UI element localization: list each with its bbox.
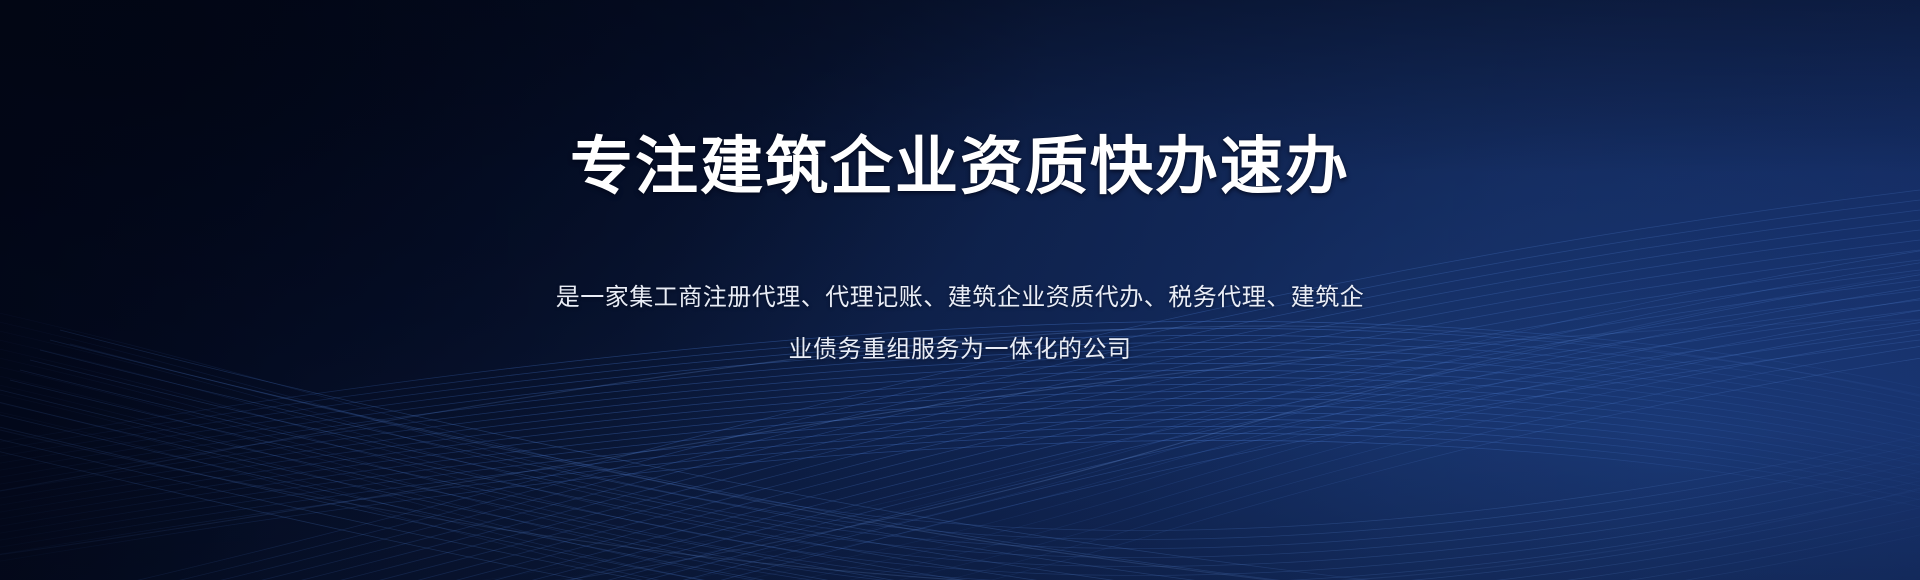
banner-content: 专注建筑企业资质快办速办 是一家集工商注册代理、代理记账、建筑企业资质代办、税务… [0,0,1920,580]
banner-subtitle-line-1: 是一家集工商注册代理、代理记账、建筑企业资质代办、税务代理、建筑企 [520,272,1400,324]
hero-banner: 专注建筑企业资质快办速办 是一家集工商注册代理、代理记账、建筑企业资质代办、税务… [0,0,1920,580]
banner-subtitle-line-2: 业债务重组服务为一体化的公司 [520,324,1400,376]
banner-subtitle: 是一家集工商注册代理、代理记账、建筑企业资质代办、税务代理、建筑企 业债务重组服… [520,272,1400,376]
banner-title: 专注建筑企业资质快办速办 [0,128,1920,206]
